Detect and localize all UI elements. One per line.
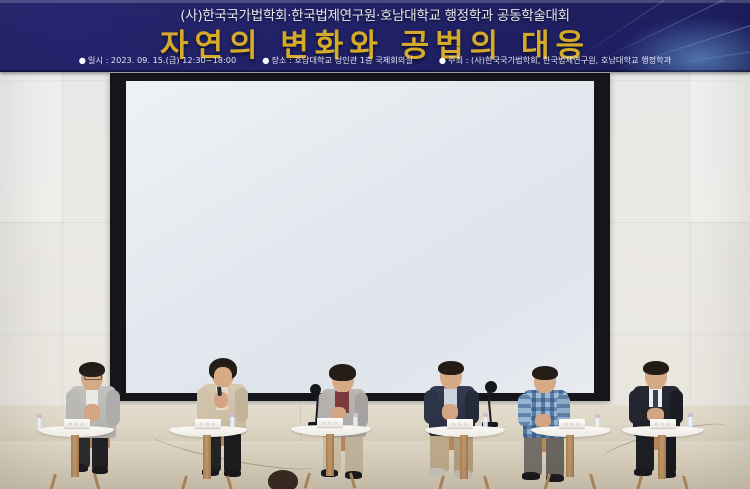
banner-info-item-host: ●주최 : (사)한국국가법학회, 한국법제연구원, 호남대학교 행정학과 — [439, 54, 671, 66]
panelist-6-bottle — [688, 416, 693, 428]
panelist-5-nameplate-text: ○ ○ ○ — [559, 422, 585, 426]
banner-info-host-text: 주최 : (사)한국국가법학회, 한국법제연구원, 호남대학교 행정학과 — [448, 54, 671, 66]
projection-screen-frame — [110, 73, 610, 401]
bullet-icon-host: ● — [439, 55, 446, 65]
panelist-3-nameplate: ○ ○ ○ — [317, 418, 343, 427]
panelist-2-nameplate: ○ ○ ○ — [195, 419, 221, 428]
banner-top-edge — [0, 0, 750, 3]
banner-bottom-edge — [0, 70, 750, 72]
panelist-1-bottle — [37, 417, 42, 429]
conference-banner: (사)한국국가법학회·한국법제연구원·호남대학교 행정학과 공동학술대회 자연의… — [0, 0, 750, 72]
panelist-3-bottle — [353, 416, 358, 427]
panelist-5-bottle — [595, 417, 600, 428]
panelist-5-table: ○ ○ ○ — [531, 420, 611, 486]
banner-info-item-venue: ●장소 : 호남대학교 성인관 1층 국제회의실 — [262, 54, 413, 66]
banner-info-venue-text: 장소 : 호남대학교 성인관 1층 국제회의실 — [271, 54, 413, 66]
panelist-3-table: ○ ○ ○ — [291, 420, 371, 486]
panelist-5-nameplate: ○ ○ ○ — [559, 419, 585, 428]
panelist-2-table: ○ ○ ○ — [169, 418, 247, 486]
panelist-4-bottle — [483, 416, 488, 428]
banner-info-row: ●일시 : 2023. 09. 15.(금) 12:30~18:00 ●장소 :… — [0, 54, 750, 66]
panelist-6-nameplate-text: ○ ○ ○ — [650, 422, 676, 426]
panelist-1-nameplate-text: ○ ○ ○ — [64, 422, 90, 426]
panelist-3-nameplate-text: ○ ○ ○ — [317, 421, 343, 425]
projection-screen-surface — [126, 81, 594, 393]
panelist-6-nameplate: ○ ○ ○ — [650, 419, 676, 428]
panelist-4-nameplate-text: ○ ○ ○ — [447, 422, 473, 426]
conference-photo: ○ ○ ○ ○ ○ ○ — [0, 0, 750, 489]
bullet-icon-date: ● — [79, 55, 86, 65]
panelist-1-nameplate: ○ ○ ○ — [64, 419, 90, 428]
panelist-2-nameplate-text: ○ ○ ○ — [195, 422, 221, 426]
panelist-2-bottle — [230, 416, 235, 428]
banner-info-item-date: ●일시 : 2023. 09. 15.(금) 12:30~18:00 — [79, 54, 236, 66]
bullet-icon-venue: ● — [262, 55, 269, 65]
banner-info-date-text: 일시 : 2023. 09. 15.(금) 12:30~18:00 — [88, 54, 236, 66]
panelist-4-nameplate: ○ ○ ○ — [447, 419, 473, 428]
panelist-6-necktie — [653, 390, 658, 410]
panelist-1-table: ○ ○ ○ — [38, 418, 114, 486]
panelist-1-glasses — [84, 373, 102, 380]
audience-head — [268, 470, 298, 489]
panelist-4-table: ○ ○ ○ — [425, 418, 505, 486]
panelist-6-table: ○ ○ ○ — [622, 418, 704, 486]
